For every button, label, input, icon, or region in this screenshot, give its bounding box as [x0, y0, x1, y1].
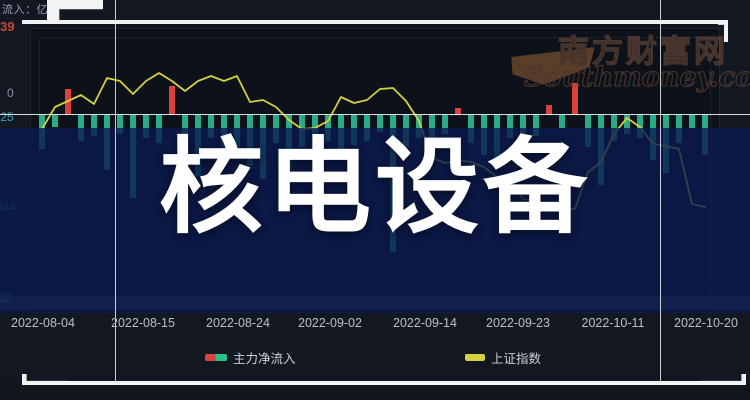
stock-chart-widget: 流入：亿元 39 [0, 0, 750, 383]
selection-edge-bottom[interactable] [22, 381, 728, 385]
y-axis-tick-0: 0 [7, 86, 14, 100]
bottom-strip [0, 385, 750, 400]
legend-swatch-bar-icon [205, 354, 227, 361]
x-axis-tick: 2022-09-02 [298, 316, 362, 330]
top-left-value-label: 39 [0, 19, 14, 34]
legend-item-shanghai-index[interactable]: 上证指数 [465, 348, 541, 367]
x-axis-tick: 2022-08-04 [11, 316, 75, 330]
x-axis-tick: 2022-08-24 [206, 316, 270, 330]
x-axis: 2022-08-04 2022-08-15 2022-08-24 2022-09… [0, 316, 750, 338]
selection-edge-top[interactable] [22, 20, 722, 24]
crosshair-horizontal [0, 114, 750, 115]
x-axis-tick: 2022-10-20 [674, 316, 738, 330]
legend-swatch-line-icon [465, 354, 485, 361]
x-axis-tick: 2022-09-23 [486, 316, 550, 330]
page-title: 核电设备 [0, 135, 750, 239]
chart-legend: 主力净流入 上证指数 [0, 348, 750, 370]
x-axis-tick: 2022-10-11 [581, 316, 644, 330]
screen-root: 流入：亿元 39 [0, 0, 750, 400]
x-axis-tick: 2022-08-15 [111, 316, 175, 330]
x-axis-tick: 2022-09-14 [393, 316, 457, 330]
legend-label: 上证指数 [491, 348, 541, 367]
legend-label: 主力净流入 [233, 348, 296, 367]
y-axis-tick-1: .25 [0, 110, 14, 124]
legend-item-net-inflow[interactable]: 主力净流入 [205, 348, 296, 367]
